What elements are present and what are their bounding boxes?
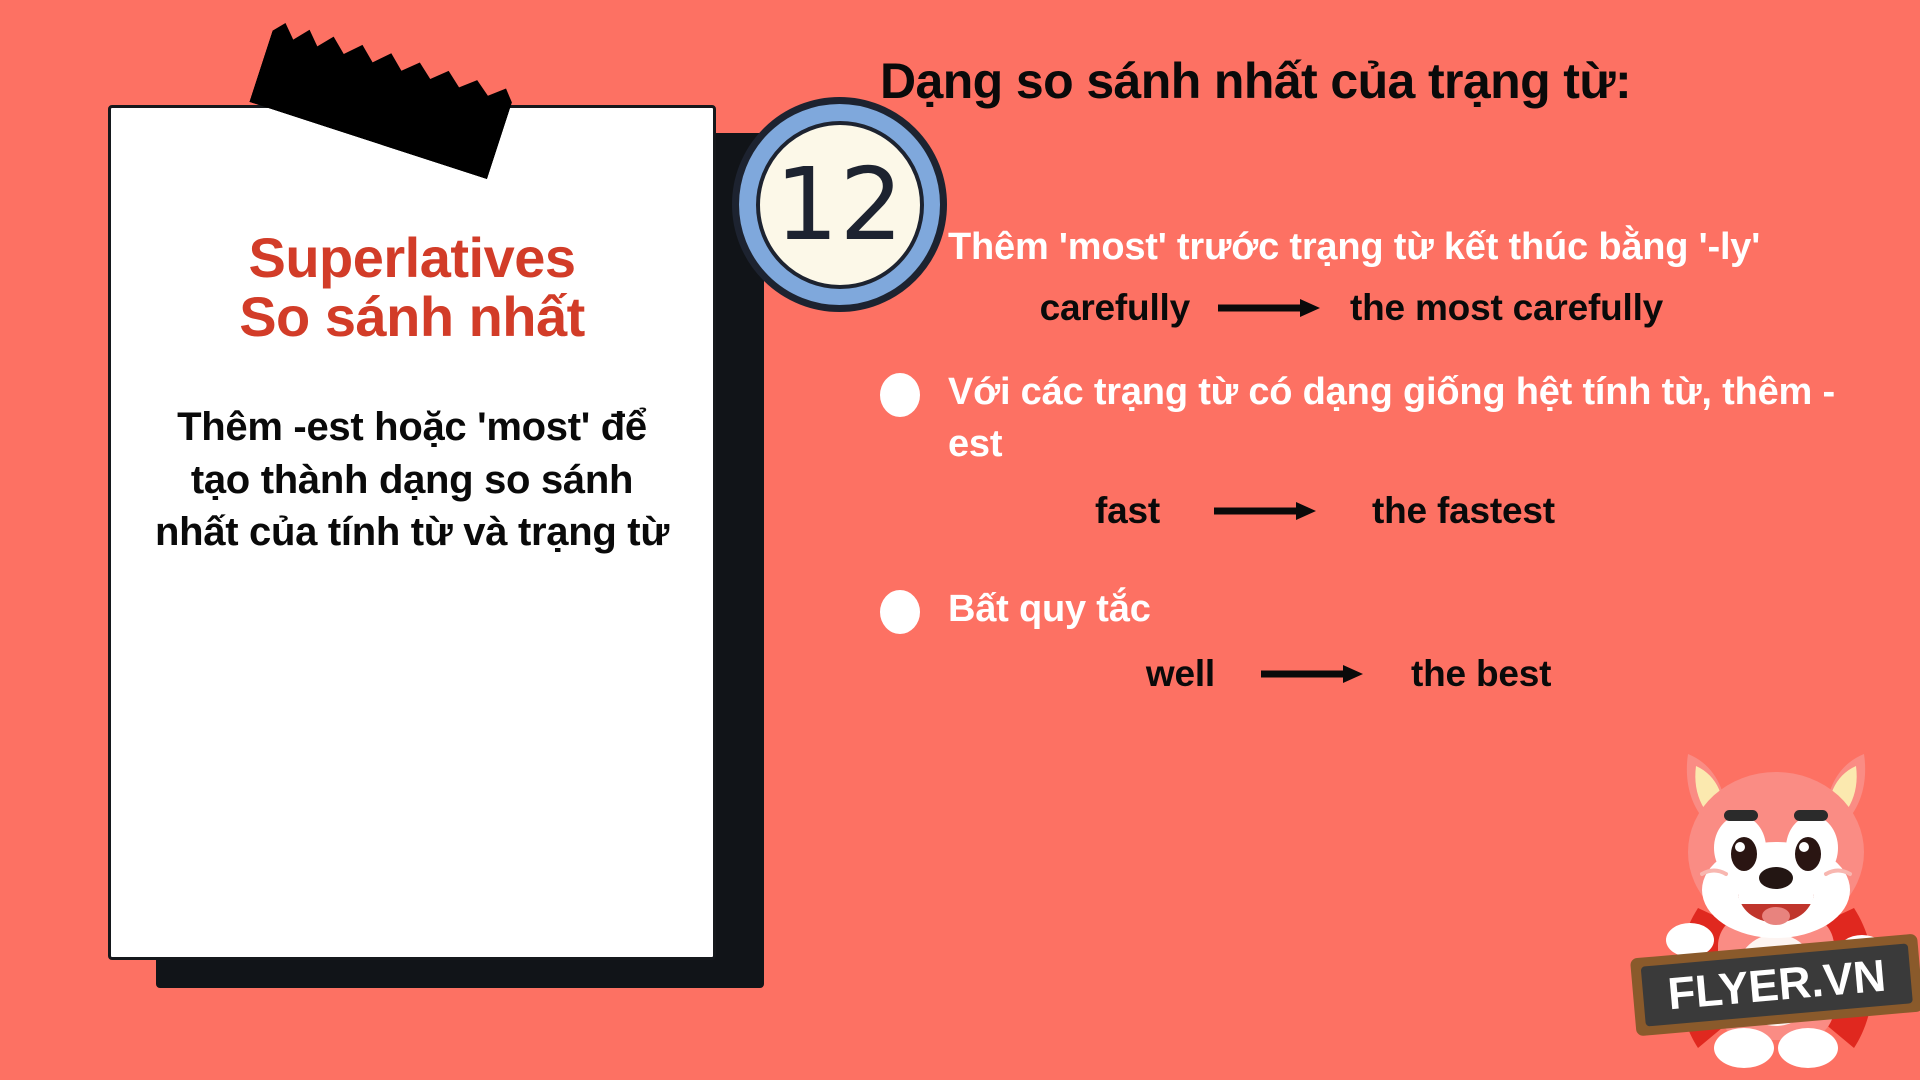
- mascot-svg: FLYER.VN: [1626, 718, 1920, 1080]
- example-base-word: fast: [1030, 490, 1160, 532]
- card-title-line1: Superlatives: [248, 226, 575, 289]
- example-pair-2: fast the fastest: [1030, 490, 1890, 532]
- content-column: Dạng so sánh nhất của trạng từ: Thêm 'mo…: [880, 52, 1890, 703]
- bullet-block-1: Thêm 'most' trước trạng từ kết thúc bằng…: [880, 222, 1890, 329]
- bullet-text: Với các trạng từ có dạng giống hệt tính …: [948, 367, 1883, 470]
- bullet-row: Thêm 'most' trước trạng từ kết thúc bằng…: [880, 222, 1890, 273]
- card-title: Superlatives So sánh nhất: [239, 228, 585, 347]
- bullet-dot-icon: [880, 590, 920, 634]
- bullet-text: Thêm 'most' trước trạng từ kết thúc bằng…: [948, 222, 1760, 273]
- example-superlative-word: the fastest: [1372, 490, 1555, 532]
- bullet-dot-icon: [880, 373, 920, 417]
- bullet-row: Bất quy tắc: [880, 584, 1890, 635]
- example-pair-3: well the best: [1095, 653, 1890, 695]
- arrow-right-icon: [1212, 498, 1320, 524]
- example-base-word: carefully: [990, 287, 1190, 329]
- card-body-text: Thêm -est hoặc 'most' để tạo thành dạng …: [145, 401, 679, 559]
- card-title-line2: So sánh nhất: [239, 287, 585, 346]
- bullet-text: Bất quy tắc: [948, 584, 1151, 635]
- slide-canvas: Superlatives So sánh nhất Thêm -est hoặc…: [0, 0, 1920, 1080]
- lesson-number-badge: 12: [732, 97, 947, 312]
- example-base-word: well: [1095, 653, 1215, 695]
- badge-inner-circle: 12: [756, 121, 924, 289]
- definition-card: Superlatives So sánh nhất Thêm -est hoặc…: [108, 105, 716, 960]
- bullet-row: Với các trạng từ có dạng giống hệt tính …: [880, 367, 1890, 470]
- example-pair-1: carefully the most carefully: [990, 287, 1890, 329]
- left-card-container: Superlatives So sánh nhất Thêm -est hoặc…: [108, 105, 773, 965]
- example-superlative-word: the most carefully: [1350, 287, 1663, 329]
- bullet-block-2: Với các trạng từ có dạng giống hệt tính …: [880, 367, 1890, 532]
- bullet-list: Thêm 'most' trước trạng từ kết thúc bằng…: [880, 222, 1890, 695]
- arrow-right-icon: [1216, 295, 1324, 321]
- page-title: Dạng so sánh nhất của trạng từ:: [880, 52, 1890, 110]
- mascot-illustration: FLYER.VN: [1626, 718, 1920, 1080]
- badge-number: 12: [775, 155, 904, 255]
- arrow-right-icon: [1259, 661, 1367, 687]
- bullet-block-3: Bất quy tắc well the best: [880, 584, 1890, 695]
- example-superlative-word: the best: [1411, 653, 1551, 695]
